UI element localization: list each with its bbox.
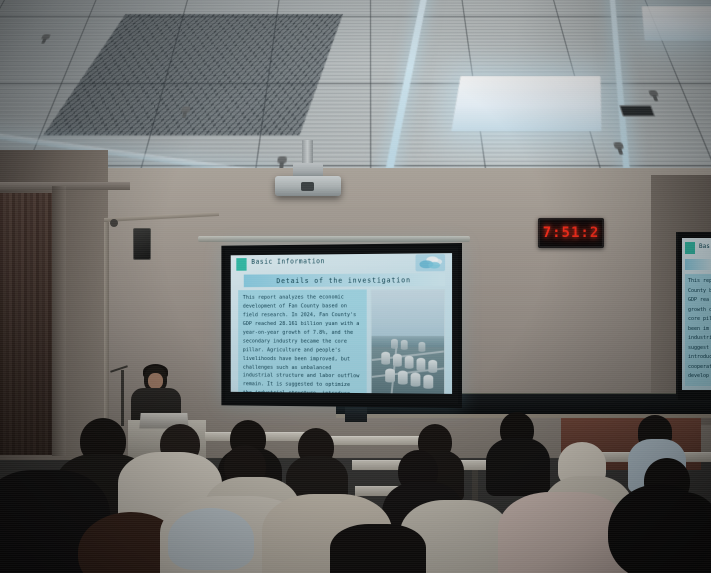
- sprinkler-head: [277, 156, 287, 163]
- light-panel: [642, 6, 711, 40]
- wall-speaker: [133, 228, 151, 260]
- slide-header: Basic Information: [231, 253, 452, 274]
- secondary-display: Bas This rep County b GDP rea growth o c…: [676, 232, 711, 400]
- slide-body: This report analyzes the economic develo…: [231, 289, 452, 394]
- slide-accent-tag: [236, 258, 246, 271]
- wall-corner: [52, 186, 66, 456]
- cloud-logo: [416, 254, 446, 271]
- storage-tank: [401, 340, 408, 350]
- storage-tank: [405, 356, 414, 369]
- storage-tank: [428, 360, 437, 373]
- slide-text-box: This report analyzes the economic develo…: [238, 289, 367, 393]
- secondary-eyebrow: Bas: [699, 243, 710, 250]
- led-wall-clock: 7:51:2: [538, 218, 604, 248]
- clock-time: 7:51:2: [543, 225, 600, 241]
- slide-eyebrow: Basic Information: [251, 257, 325, 265]
- storage-tank: [391, 339, 398, 349]
- storage-tank: [393, 354, 402, 367]
- wall-camera: [110, 219, 118, 227]
- presentation-slide: Basic Information Details of the investi…: [231, 253, 452, 394]
- light-panel: [451, 76, 601, 131]
- presenter-face: [148, 373, 163, 389]
- storage-tank: [423, 375, 433, 389]
- secondary-accent-tag: [685, 242, 695, 254]
- lecture-hall-photo: 7:51:2 Basic Information: [0, 0, 711, 573]
- secondary-title-bar: [685, 259, 711, 270]
- slide-photo-tank-farm: [371, 289, 446, 394]
- podium-microphone: [121, 370, 124, 426]
- air-vent: [619, 105, 655, 117]
- secondary-text-box: This rep County b GDP rea growth o core …: [685, 274, 711, 386]
- student-body: [486, 438, 550, 496]
- storage-tank: [411, 373, 421, 387]
- photo-sky: [372, 290, 445, 338]
- storage-tank: [416, 358, 425, 371]
- storage-tank: [385, 369, 395, 383]
- ceiling-projector: [275, 176, 341, 196]
- sprinkler-head: [613, 142, 624, 149]
- slide-title: Details of the investigation: [276, 276, 411, 285]
- slide-title-bar: Details of the investigation: [244, 273, 445, 287]
- secondary-display-slide: Bas This rep County b GDP rea growth o c…: [682, 238, 711, 390]
- storage-tank: [381, 352, 390, 365]
- student-hood: [168, 508, 254, 570]
- slide-paragraph: This report analyzes the economic develo…: [243, 293, 362, 393]
- curtain-shading: [0, 193, 52, 455]
- storage-tank: [398, 371, 408, 385]
- wall-conduit: [104, 222, 109, 422]
- projection-screen: Basic Information Details of the investi…: [221, 243, 462, 408]
- storage-tank: [418, 342, 425, 352]
- student-body: [330, 524, 426, 573]
- screen-roller-casing: [198, 236, 470, 242]
- student-head: [608, 484, 711, 573]
